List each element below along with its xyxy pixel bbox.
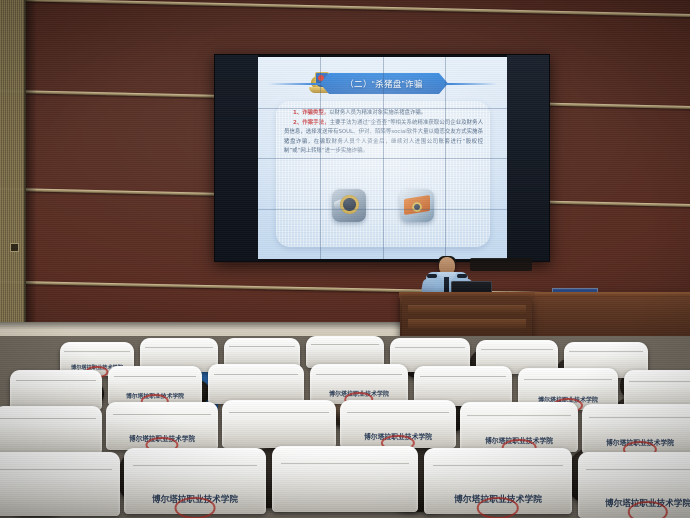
seat-crease bbox=[114, 376, 197, 377]
seat-crease bbox=[316, 374, 402, 375]
left-louvre-strip bbox=[0, 0, 26, 338]
seat-logo-icon bbox=[628, 501, 668, 518]
slide-p1-rest: 以财务人员为精准对象实施杀猪盘诈骗。 bbox=[329, 110, 426, 116]
left-shadow-band bbox=[24, 0, 36, 338]
seat-crease bbox=[16, 380, 97, 381]
presentation-slide: （二）“杀猪盘”诈骗 1、诈骗类型，以财务人员为精准对象实施杀猪盘诈骗。 2、作… bbox=[258, 57, 507, 259]
seat-crease bbox=[481, 349, 553, 350]
slide-p2-lead: 2、作案手法， bbox=[293, 120, 330, 126]
seat-cover[interactable]: 博尔塔拉职业技术学院 bbox=[578, 452, 690, 518]
officer-epaulette-left bbox=[427, 274, 437, 278]
seat-crease bbox=[0, 418, 95, 419]
seat-crease bbox=[569, 351, 643, 352]
seat-crease bbox=[586, 469, 690, 470]
card-scam-app-icon bbox=[400, 189, 434, 222]
seat-cover[interactable]: 博尔塔拉职业技术学院 bbox=[460, 402, 578, 452]
slide-body-text: 1、诈骗类型，以财务人员为精准对象实施杀猪盘诈骗。 2、作案手法，主要手法为通过… bbox=[284, 109, 483, 157]
officer-tie bbox=[444, 277, 449, 293]
podium-panel-2 bbox=[408, 319, 526, 329]
seat-crease bbox=[524, 379, 612, 380]
led-video-wall[interactable]: （二）“杀猪盘”诈骗 1、诈骗类型，以财务人员为精准对象实施杀猪盘诈骗。 2、作… bbox=[214, 54, 550, 262]
seat-cover[interactable] bbox=[0, 452, 120, 516]
ceiling-speaker-box bbox=[470, 258, 532, 271]
seat-cover[interactable] bbox=[0, 406, 102, 454]
seat-cover[interactable] bbox=[222, 400, 336, 448]
seat-crease bbox=[589, 417, 690, 418]
seat-crease bbox=[629, 381, 690, 382]
seat-cover[interactable]: 博尔塔拉职业技术学院 bbox=[108, 366, 202, 406]
lock-money-app-icon bbox=[332, 189, 366, 222]
seat-cover[interactable]: 博尔塔拉职业技术学院 bbox=[124, 448, 266, 514]
seat-cover[interactable]: 博尔塔拉职业技术学院 bbox=[106, 402, 218, 450]
seat-cover[interactable] bbox=[10, 370, 102, 410]
seat-crease bbox=[467, 415, 571, 416]
seat-crease bbox=[433, 465, 563, 466]
seat-cover[interactable] bbox=[208, 364, 304, 404]
podium-panel-1 bbox=[408, 305, 526, 315]
slide-title: （二）“杀猪盘”诈骗 bbox=[320, 73, 448, 94]
slide-app-icons bbox=[258, 183, 507, 227]
seat-crease bbox=[420, 376, 506, 377]
seat-crease bbox=[395, 347, 465, 348]
seat-cover[interactable]: 博尔塔拉职业技术学院 bbox=[340, 400, 456, 448]
seat-cover[interactable]: 博尔塔拉职业技术学院 bbox=[310, 364, 408, 404]
seat-crease bbox=[347, 412, 449, 413]
seat-crease bbox=[64, 351, 129, 352]
seat-logo-icon bbox=[477, 497, 519, 518]
seated-students: 博尔塔拉职业技术学院博尔塔拉职业技术学院博尔塔拉职业技术学院博尔塔拉职业技术学院… bbox=[0, 336, 690, 518]
seat-cover[interactable]: 博尔塔拉职业技术学院 bbox=[582, 404, 690, 454]
slide-paragraph-2: 2、作案手法，主要手法为通过“企查查”等相关系统精准获取公司企业及财务人员信息，… bbox=[284, 119, 483, 156]
slide-paragraph-1: 1、诈骗类型，以财务人员为精准对象实施杀猪盘诈骗。 bbox=[284, 109, 483, 118]
seat-logo-icon bbox=[175, 497, 216, 518]
seat-crease bbox=[145, 347, 214, 348]
seat-crease bbox=[0, 469, 112, 470]
strip-notch bbox=[10, 243, 19, 252]
seat-crease bbox=[229, 412, 329, 413]
seat-crease bbox=[229, 346, 296, 347]
seat-crease bbox=[214, 374, 299, 375]
seat-crease bbox=[311, 344, 380, 345]
seat-crease bbox=[113, 414, 212, 415]
seat-cover[interactable]: 博尔塔拉职业技术学院 bbox=[424, 448, 572, 514]
seat-crease bbox=[133, 465, 258, 466]
auditorium-photo: （二）“杀猪盘”诈骗 1、诈骗类型，以财务人员为精准对象实施杀猪盘诈骗。 2、作… bbox=[0, 0, 690, 518]
slide-p1-lead: 1、诈骗类型， bbox=[293, 110, 329, 116]
screen-dark-panel-left bbox=[215, 55, 258, 261]
officer-epaulette-right bbox=[457, 274, 467, 278]
seat-cover[interactable] bbox=[272, 446, 418, 512]
seat-crease bbox=[281, 463, 410, 464]
screen-dark-panel-right bbox=[507, 55, 549, 261]
